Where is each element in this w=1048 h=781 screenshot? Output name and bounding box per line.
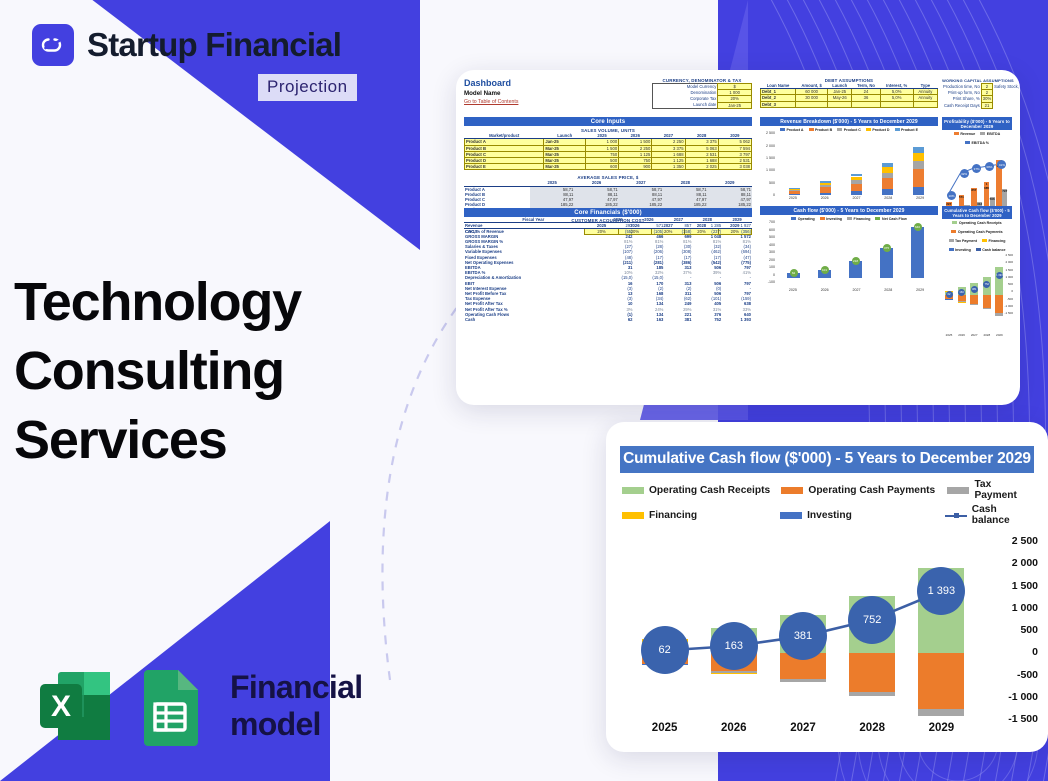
format-badges: X Financial model (32, 662, 440, 750)
table-cell: 21 (981, 102, 992, 108)
brand-subtitle: Projection (258, 74, 357, 101)
x-tick: 2026 (958, 333, 966, 337)
bar-segment (970, 304, 978, 305)
table-cell: 1 350 (652, 164, 685, 170)
y-tick: 100 (769, 265, 775, 269)
y-tick: -1 500 (1004, 311, 1013, 315)
y-tick: 2 000 (766, 144, 775, 148)
legend-item: Operating Cash Payments (951, 230, 1002, 234)
y-tick: 500 (769, 181, 775, 185)
dashboard-title: Dashboard (464, 78, 650, 88)
legend-label: Financing (854, 217, 871, 221)
table-cell: Product E (465, 164, 544, 170)
legend-item: EBITDA % (965, 141, 989, 145)
sales-volume-table[interactable]: Market/productLaunch20252026202720282029… (464, 133, 752, 170)
bar-segment (820, 185, 831, 187)
currency-caption: CURRENCY, DENOMINATOR & TAX (652, 78, 752, 83)
line-marker: 62 (946, 291, 953, 298)
x-tick: 2025 (630, 722, 699, 734)
y-tick: 200 (769, 258, 775, 262)
table-cell (852, 101, 880, 107)
table-cell: 752 (692, 317, 722, 322)
dashboard-screenshot-card: Dashboard Model Name Go to Table of Cont… (456, 70, 1020, 405)
legend-swatch-operating-receipts (622, 487, 644, 494)
page-title-line: Consulting (14, 337, 301, 406)
bar-segment (789, 194, 800, 195)
data-point-marker: 163 (710, 622, 758, 670)
chart-legend: Operating Cash Receipts Operating Cash P… (622, 479, 1032, 526)
revenue-breakdown-plot: 2 5002 0001 5001 0005000 202520262027202… (760, 133, 938, 209)
y-tick: 500 (1020, 624, 1038, 636)
line-marker: 375 (883, 244, 891, 252)
y-axis-labels: 2 5002 0001 5001 0005000-500-1 000-1 500 (976, 542, 1042, 720)
legend-label: Financing (988, 239, 1005, 243)
bar-segment (820, 181, 831, 183)
cumulative-mini-plot: 6220251632026381202775220281 39320292 50… (942, 253, 1012, 331)
table-cell: 900 (619, 164, 652, 170)
bar-segment (820, 193, 831, 196)
bar-segment (820, 187, 831, 192)
legend-label: Revenue (960, 132, 975, 136)
model-name-label: Model Name (464, 90, 650, 97)
table-cell: Debt_3 (761, 101, 796, 107)
y-tick: 2 000 (1005, 260, 1013, 264)
legend-label-operating-payments: Operating Cash Payments (808, 485, 935, 496)
working-capital-table[interactable]: Production time, No2Safety Stock, %10%Pr… (942, 83, 1020, 109)
page-title-line: Technology (14, 268, 301, 337)
bar-segment (851, 191, 862, 195)
legend-swatch-financing (622, 512, 644, 519)
bar-segment (849, 653, 895, 691)
bar-segment (983, 295, 991, 307)
y-tick: -1 000 (1008, 691, 1038, 703)
x-tick: 2026 (809, 288, 841, 292)
wc-caption: WORKING CAPITAL ASSUMPTIONS (942, 78, 1014, 83)
table-cell: 2 025 (685, 164, 718, 170)
y-tick: 300 (769, 250, 775, 254)
table-cell (828, 101, 852, 107)
legend-label: Product A (786, 128, 803, 132)
x-tick: 2028 (983, 333, 991, 337)
cashflow-plot: 7006005004003002001000-100 6210121837564… (760, 222, 938, 300)
table-row: Debt_3 (761, 101, 938, 107)
legend-item: Revenue (954, 132, 975, 136)
line-marker: 381 (971, 286, 978, 293)
legend-label: Net Cash Flow (882, 217, 907, 221)
x-tick: 2027 (970, 333, 978, 337)
bar-segment (918, 709, 964, 716)
y-tick: 1 000 (766, 168, 775, 172)
bar-segment (995, 295, 1003, 313)
x-axis-labels: 20252026202720282029 (630, 722, 976, 734)
y-tick: 1 500 (1012, 580, 1038, 592)
y-tick: 0 (773, 193, 775, 197)
y-tick: 400 (769, 243, 775, 247)
bar-segment (780, 679, 826, 682)
infinity-loop-icon (32, 24, 74, 66)
line-marker: 640 (914, 223, 922, 231)
y-tick: 2 500 (1005, 253, 1013, 257)
bar-segment (851, 180, 862, 183)
table-cell: Safety Stock, % (993, 84, 1020, 90)
x-tick: 2025 (777, 196, 809, 200)
legend-item: Financing (847, 217, 870, 221)
line-marker: 39% (985, 162, 994, 171)
y-tick: 2 500 (1012, 535, 1038, 547)
cumulative-cashflow-card: Cumulative Cash flow ($'000) - 5 Years t… (606, 422, 1048, 752)
profitability-legend: RevenueEBITDAEBITDA % (942, 130, 1012, 146)
bar-segment (851, 177, 862, 181)
bar-segment (882, 173, 893, 178)
legend-item: Investing (949, 248, 971, 252)
legend-item: Operating (791, 217, 814, 221)
x-tick: 2028 (838, 722, 907, 734)
table-cell (913, 101, 937, 107)
legend-label: Operating (798, 217, 815, 221)
bar-segment (851, 184, 862, 192)
y-tick: 500 (769, 235, 775, 239)
data-point-marker: 752 (848, 596, 896, 644)
legend-item: Product C (837, 128, 861, 132)
bar-segment (983, 308, 991, 309)
bar-segment (789, 190, 800, 191)
table-cell: Launch date (653, 102, 718, 108)
legend-item: Net Cash Flow (875, 217, 906, 221)
y-tick: -1 000 (1004, 304, 1013, 308)
legend-label: Product E (901, 128, 918, 132)
toc-link[interactable]: Go to Table of Contents (464, 99, 650, 105)
legend-label-financing: Financing (649, 510, 697, 521)
table-cell: 3 038 (718, 164, 751, 170)
bar-segment (789, 188, 800, 189)
page-title-line: Services (14, 406, 301, 475)
y-tick: 1 500 (1005, 268, 1013, 272)
legend-item: Product E (895, 128, 918, 132)
y-tick: -1 500 (1008, 713, 1038, 725)
legend-item: Investing (820, 217, 842, 221)
x-tick: 2025 (777, 288, 809, 292)
table-cell: 30% (981, 96, 992, 102)
legend-swatch-operating-payments (781, 487, 803, 494)
table-cell (796, 101, 828, 107)
table-cell: Jan-25 (718, 102, 752, 108)
spreadsheet-dashboard: Dashboard Model Name Go to Table of Cont… (456, 70, 1020, 405)
legend-item: EBITDA (980, 132, 1000, 136)
legend-label: Product C (844, 128, 861, 132)
table-cell: 163 (634, 317, 665, 322)
svg-text:X: X (51, 690, 71, 723)
cashflow-legend: OperatingInvestingFinancingNet Cash Flow (760, 215, 938, 222)
legend-item: Operating Cash Receipts (952, 221, 1001, 225)
x-tick: 2026 (809, 196, 841, 200)
legend-item: Product A (780, 128, 804, 132)
x-tick: 2026 (699, 722, 768, 734)
legend-item: Product D (866, 128, 890, 132)
legend-label: Operating Cash Payments (958, 230, 1003, 234)
chart-plot-area: 621633817521 393 2 5002 0001 5001 000500… (606, 542, 1048, 752)
line-marker: 1 393 (996, 272, 1003, 279)
table-cell: 62 (603, 317, 634, 322)
core-financials-header: Core Financials ($'000) (464, 208, 752, 217)
bar-segment (913, 169, 924, 187)
bar-segment (789, 189, 800, 190)
y-tick: 500 (1008, 282, 1013, 286)
bar-segment (970, 295, 978, 303)
y-tick: -500 (1017, 669, 1038, 681)
legend-item: Product B (809, 128, 833, 132)
legend-label: Cash balance (982, 248, 1005, 252)
page-title: TechnologyConsultingServices (14, 268, 301, 475)
x-tick: 2028 (872, 196, 904, 200)
legend-label: Tax Payment (955, 239, 977, 243)
x-tick: 2028 (872, 288, 904, 292)
legend-swatch-tax-payment (947, 487, 969, 494)
profitability-title: Profitability ($'000) - 5 Years to Decem… (942, 117, 1012, 130)
data-point-marker: 62 (641, 626, 689, 674)
x-tick: 2027 (768, 722, 837, 734)
y-tick: -100 (768, 280, 775, 284)
table-cell: 381 (664, 317, 692, 322)
financial-model-label: Financial model (230, 669, 440, 743)
y-tick: 2 000 (1012, 557, 1038, 569)
x-tick: 2029 (904, 288, 936, 292)
table-row: Cash621633817521 393 (464, 317, 752, 322)
cashflow-title: Cash flow ($'000) - 5 Years to December … (760, 206, 938, 215)
line-marker: 101 (821, 266, 829, 274)
table-row: Launch dateJan-25 (653, 102, 752, 108)
core-financials-table[interactable]: Fiscal Year20252026202720282029Revenue29… (464, 217, 752, 322)
bar-segment (820, 183, 831, 185)
x-tick: 2029 (904, 196, 936, 200)
y-tick: 1 500 (766, 156, 775, 160)
currency-assumptions-table[interactable]: Model Currency$Denomination1 000Corporat… (652, 83, 752, 109)
data-point-marker: 381 (779, 612, 827, 660)
bar-segment (882, 167, 893, 172)
y-tick: 1 000 (1005, 275, 1013, 279)
legend-label: Investing (955, 248, 971, 252)
google-sheets-icon (134, 662, 206, 750)
table-cell: Print-up form, No (942, 90, 981, 96)
cumulative-mini-legend: Operating Cash ReceiptsOperating Cash Pa… (942, 219, 1012, 253)
x-tick: 2025 (945, 333, 953, 337)
table-cell (880, 101, 913, 107)
brand-logo: Startup Financial (32, 24, 341, 66)
line-marker: 62 (790, 269, 798, 277)
y-tick: 700 (769, 220, 775, 224)
legend-label: EBITDA (987, 132, 1000, 136)
bar-segment (913, 153, 924, 161)
x-tick: 2027 (841, 196, 873, 200)
y-tick: 1 000 (1012, 602, 1038, 614)
revenue-breakdown-title: Revenue Breakdown ($'000) - 5 Years to D… (760, 117, 938, 126)
line-marker: 218 (852, 257, 860, 265)
y-tick: 0 (1011, 289, 1013, 293)
legend-item: Tax Payment (949, 239, 977, 243)
bar-segment (918, 653, 964, 709)
debt-assumptions-table[interactable]: Loan NameAmount, $LaunchTerm, NoInterest… (760, 83, 938, 108)
brand-name: Startup Financial (87, 26, 341, 64)
bar-segment (995, 313, 1003, 315)
x-tick: 2027 (841, 288, 873, 292)
table-cell: Cash (464, 317, 603, 322)
revenue-breakdown-legend: Product AProduct BProduct CProduct DProd… (760, 126, 938, 133)
y-tick: -500 (1007, 297, 1013, 301)
chart-title: Cumulative Cash flow ($'000) - 5 Years t… (620, 446, 1034, 473)
legend-label-tax-payment: Tax Payment (974, 479, 1032, 501)
y-tick: 600 (769, 228, 775, 232)
legend-label: Product B (815, 128, 832, 132)
table-row: Cash Receipt Days21 (942, 102, 1020, 108)
x-tick: 2029 (907, 722, 976, 734)
table-row: Product EMar-256009001 3502 0253 038 (465, 164, 752, 170)
legend-label: Investing (826, 217, 842, 221)
table-cell: 1 393 (722, 317, 752, 322)
bar-segment (882, 189, 893, 195)
line-marker: 32% (960, 169, 969, 178)
bar-segment (882, 163, 893, 167)
bar-segment (913, 161, 924, 169)
core-inputs-header: Core Inputs (464, 117, 752, 126)
x-tick: 2029 (995, 333, 1003, 337)
legend-label: Product D (872, 128, 889, 132)
bar-segment (913, 187, 924, 196)
y-tick: 2 500 (766, 131, 775, 135)
table-cell: Production time, No (942, 84, 981, 90)
table-cell: 600 (585, 164, 618, 170)
bar (880, 248, 893, 278)
legend-label-cash-balance: Cash balance (972, 504, 1032, 526)
legend-swatch-investing (780, 512, 802, 519)
legend-label-investing: Investing (807, 510, 852, 521)
y-tick: 0 (773, 273, 775, 277)
bar-segment (849, 692, 895, 696)
microsoft-excel-icon: X (32, 662, 120, 750)
bar-segment (711, 673, 757, 674)
legend-item: Cash balance (976, 248, 1006, 252)
table-cell: Cash Receipt Days (942, 102, 981, 108)
legend-swatch-cash-balance (945, 512, 967, 519)
legend-item: Financing (982, 239, 1005, 243)
legend-label: Operating Cash Receipts (959, 221, 1002, 225)
legend-label-operating-receipts: Operating Cash Receipts (649, 485, 770, 496)
y-tick: 0 (1032, 646, 1038, 658)
left-panel: Startup Financial Projection TechnologyC… (0, 0, 440, 781)
bar (911, 227, 924, 278)
bar-segment (882, 178, 893, 190)
bar-segment (851, 174, 862, 177)
table-cell: Mar-25 (544, 164, 586, 170)
bar-segment (913, 147, 924, 153)
legend-label: EBITDA % (972, 141, 989, 145)
cumulative-mini-title: Cumulative Cash flow ($'000) - 5 Years t… (942, 206, 1012, 219)
bar-segment (789, 191, 800, 194)
